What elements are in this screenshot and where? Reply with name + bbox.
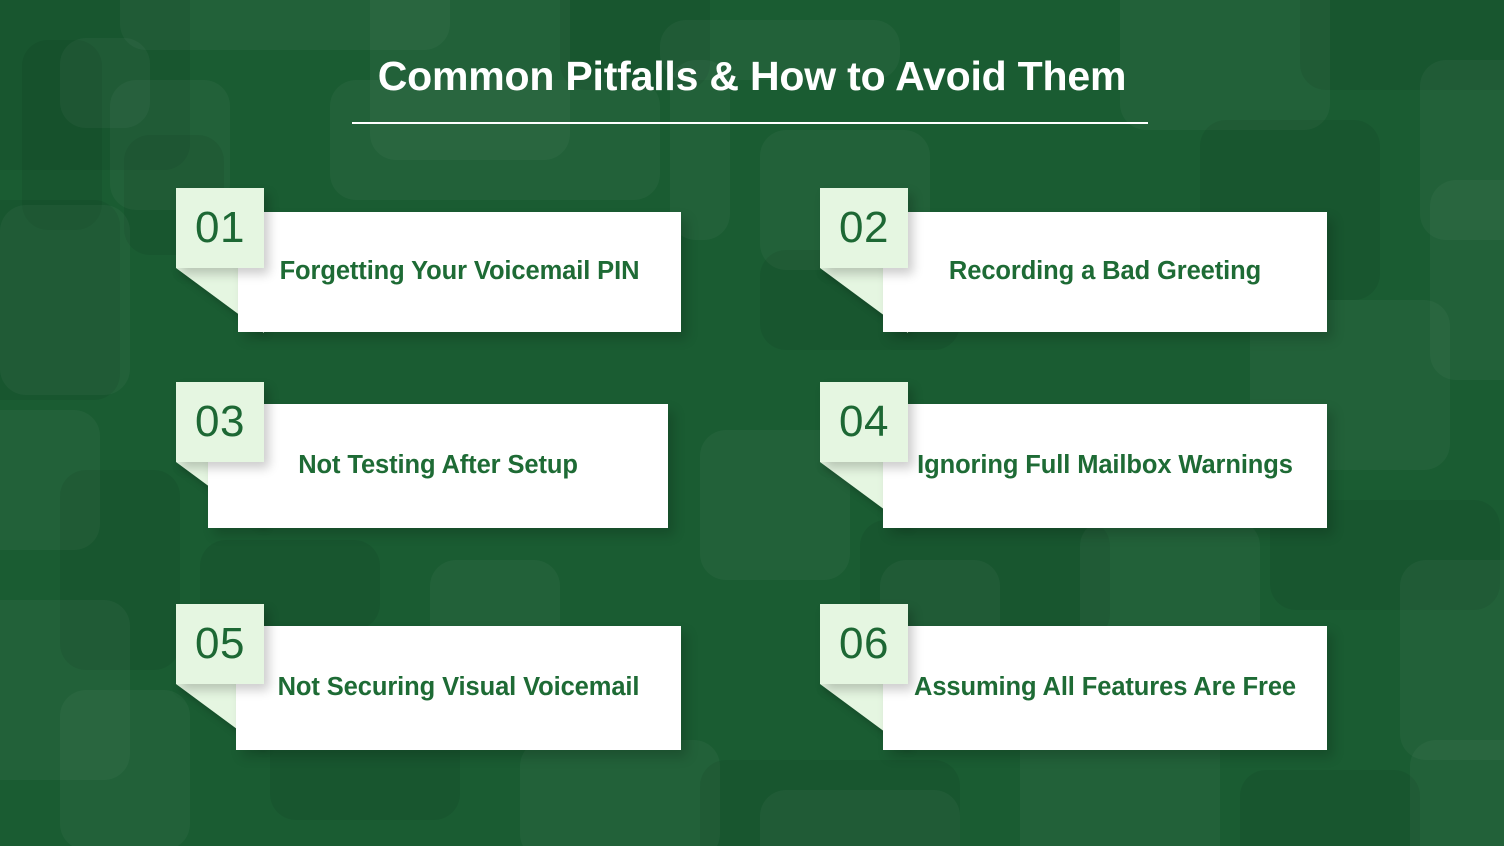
card-number: 03 (195, 400, 245, 444)
card-title: Not Securing Visual Voicemail (264, 670, 654, 705)
page-title: Common Pitfalls & How to Avoid Them (0, 54, 1504, 100)
card-number-badge: 05 (176, 604, 264, 684)
background-shape (700, 760, 960, 846)
card-title: Recording a Bad Greeting (935, 254, 1275, 289)
background-shape (0, 205, 130, 395)
card-panel: Recording a Bad Greeting (883, 212, 1327, 332)
card-title: Not Testing After Setup (284, 448, 592, 483)
card-panel: Ignoring Full Mailbox Warnings (883, 404, 1327, 528)
card-title: Forgetting Your Voicemail PIN (266, 254, 654, 289)
background-shape (0, 410, 100, 550)
background-shape (1400, 560, 1504, 760)
title-divider (352, 122, 1148, 124)
card-number-badge: 01 (176, 188, 264, 268)
card-title: Ignoring Full Mailbox Warnings (903, 448, 1307, 483)
background-shape (1430, 180, 1504, 380)
card-title: Assuming All Features Are Free (900, 670, 1310, 705)
card-number-badge: 03 (176, 382, 264, 462)
card-panel: Forgetting Your Voicemail PIN (238, 212, 681, 332)
slide-canvas: Common Pitfalls & How to Avoid Them Forg… (0, 0, 1504, 846)
background-shape (60, 690, 190, 846)
card-panel: Not Testing After Setup (208, 404, 668, 528)
title-block: Common Pitfalls & How to Avoid Them (0, 54, 1504, 100)
card-panel: Not Securing Visual Voicemail (236, 626, 681, 750)
card-number-badge: 04 (820, 382, 908, 462)
background-shape (520, 740, 720, 846)
background-shape (60, 470, 180, 670)
card-number: 02 (839, 206, 889, 250)
background-shape (0, 200, 120, 400)
card-number-badge: 02 (820, 188, 908, 268)
background-shape (1410, 740, 1504, 846)
card-panel: Assuming All Features Are Free (883, 626, 1327, 750)
background-shape (760, 790, 960, 846)
card-number-badge: 06 (820, 604, 908, 684)
background-shape (120, 0, 450, 50)
background-shape (1240, 770, 1420, 846)
card-number: 04 (839, 400, 889, 444)
card-number: 01 (195, 206, 245, 250)
card-number: 06 (839, 622, 889, 666)
background-shape (0, 600, 130, 780)
card-number: 05 (195, 622, 245, 666)
